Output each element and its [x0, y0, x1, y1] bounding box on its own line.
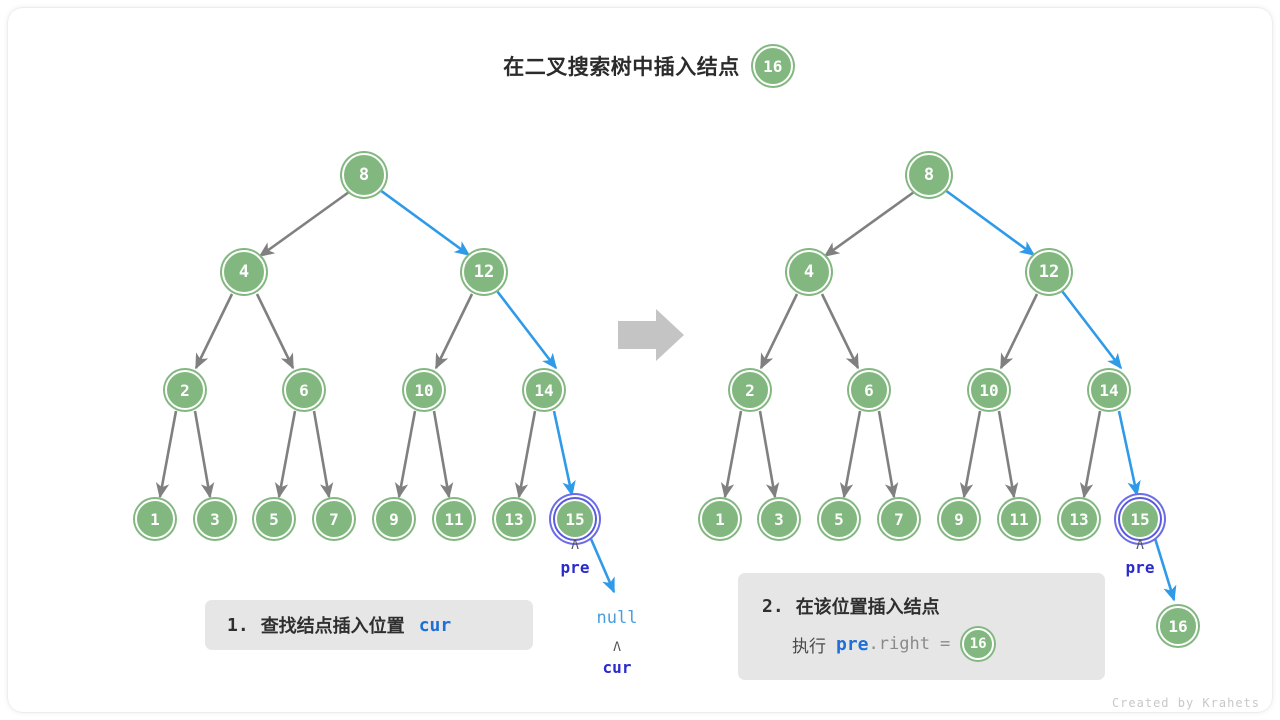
- tree-node[interactable]: 10: [969, 370, 1009, 410]
- credit-text: Created by Krahets: [1112, 696, 1260, 710]
- tree-node[interactable]: 14: [1089, 370, 1129, 410]
- caption-2-pre: pre: [836, 634, 869, 655]
- caption-1-pointer: cur: [419, 615, 452, 636]
- tree-node[interactable]: 4: [787, 250, 831, 294]
- caption-2-number: 2.: [762, 596, 784, 617]
- tree-node[interactable]: 8: [342, 153, 386, 197]
- tree-node[interactable]: 3: [195, 499, 235, 539]
- left-tree-gray-edges: [160, 192, 535, 497]
- caption-1-text: 查找结点插入位置: [261, 612, 405, 638]
- caption-2-field: .right: [869, 634, 930, 654]
- page-title-text: 在二叉搜索树中插入结点: [503, 51, 740, 81]
- caption-2-text: 在该位置插入结点: [796, 593, 940, 619]
- tree-node[interactable]: 13: [1059, 499, 1099, 539]
- tree-node[interactable]: 12: [1027, 250, 1071, 294]
- tree-node[interactable]: 11: [434, 499, 474, 539]
- tree-node[interactable]: 7: [314, 499, 354, 539]
- tree-node[interactable]: 10: [404, 370, 444, 410]
- tree-node[interactable]: 8: [907, 153, 951, 197]
- caption-1-number: 1.: [227, 615, 249, 636]
- tree-node[interactable]: 1: [700, 499, 740, 539]
- tree-node[interactable]: 13: [494, 499, 534, 539]
- pre-pointer-label: pre: [561, 558, 590, 577]
- tree-node[interactable]: 6: [284, 370, 324, 410]
- tree-node[interactable]: 5: [254, 499, 294, 539]
- tree-node-highlighted[interactable]: 15: [555, 499, 595, 539]
- tree-node[interactable]: 3: [759, 499, 799, 539]
- tree-node[interactable]: 14: [524, 370, 564, 410]
- tree-node[interactable]: 7: [879, 499, 919, 539]
- tree-node[interactable]: 9: [374, 499, 414, 539]
- pre-pointer-caret: Λ: [1136, 538, 1144, 553]
- tree-node[interactable]: 6: [849, 370, 889, 410]
- tree-node[interactable]: 5: [819, 499, 859, 539]
- diagram-stage: 在二叉搜索树中插入结点 16 8 4 12 2 6 10 14 1 3 5 7 …: [8, 8, 1272, 712]
- caption-2-value-badge: 16: [962, 628, 994, 660]
- tree-node[interactable]: 2: [730, 370, 770, 410]
- caption-step-1: 1. 查找结点插入位置 cur: [205, 600, 533, 650]
- tree-node[interactable]: 9: [939, 499, 979, 539]
- tree-node[interactable]: 4: [222, 250, 266, 294]
- tree-node[interactable]: 2: [165, 370, 205, 410]
- right-tree-gray-edges: [725, 192, 1100, 497]
- tree-node-highlighted[interactable]: 15: [1120, 499, 1160, 539]
- caption-step-2: 2. 在该位置插入结点 执行 pre .right = 16: [738, 573, 1105, 680]
- page-title: 在二叉搜索树中插入结点 16: [8, 46, 1272, 86]
- tree-node[interactable]: 11: [999, 499, 1039, 539]
- tree-node[interactable]: 12: [462, 250, 506, 294]
- cur-pointer-label: cur: [603, 658, 632, 677]
- caption-2-verb: 执行: [792, 632, 826, 657]
- pre-pointer-label: pre: [1126, 558, 1155, 577]
- pre-pointer-caret: Λ: [571, 538, 579, 553]
- cur-pointer-caret: Λ: [613, 640, 621, 655]
- right-arrow-icon: [618, 309, 684, 361]
- title-badge: 16: [753, 46, 793, 86]
- null-label: null: [597, 608, 638, 628]
- tree-node[interactable]: 1: [135, 499, 175, 539]
- tree-node-inserted[interactable]: 16: [1158, 606, 1198, 646]
- diagram-card: 在二叉搜索树中插入结点 16 8 4 12 2 6 10 14 1 3 5 7 …: [8, 8, 1272, 712]
- caption-2-equals: =: [940, 634, 950, 654]
